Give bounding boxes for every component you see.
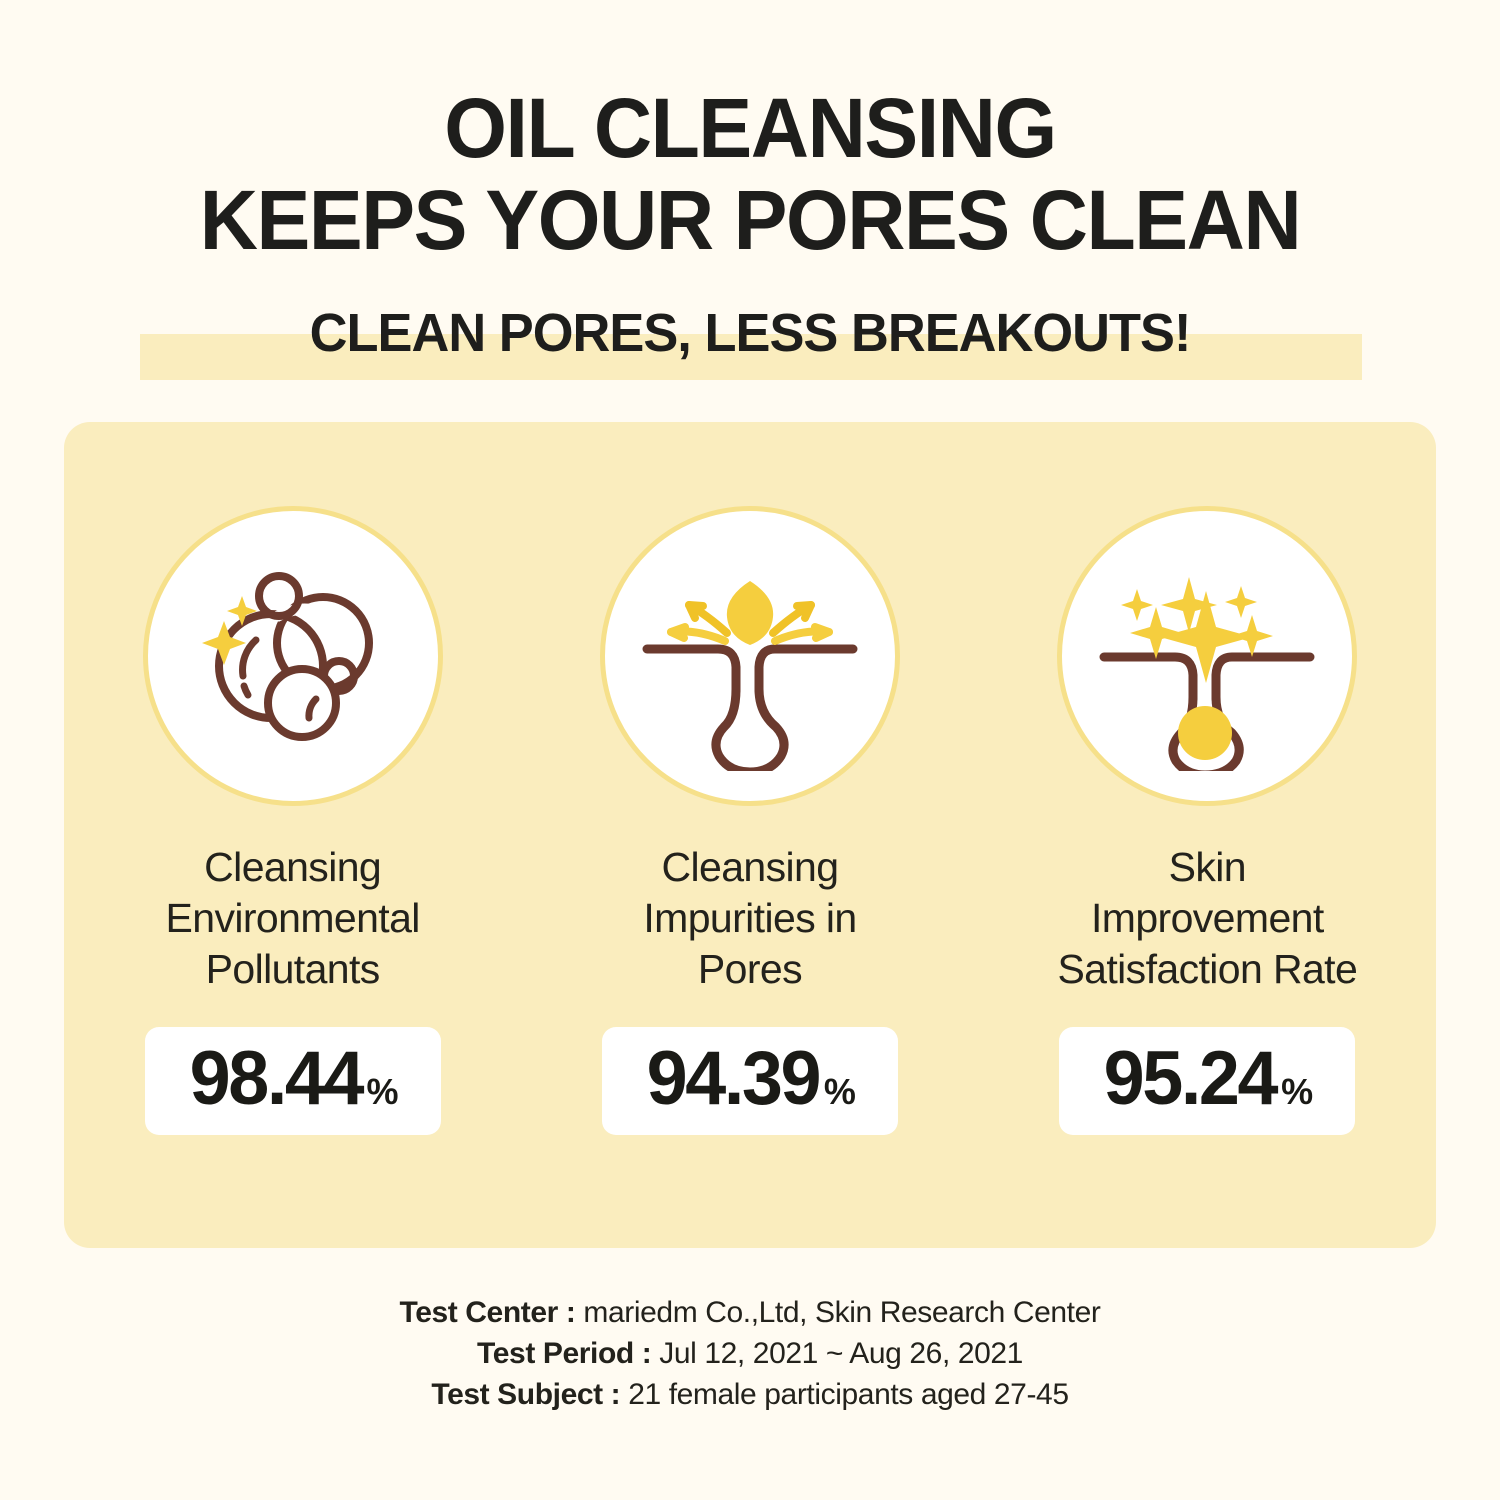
footer-value: Jul 12, 2021 ~ Aug 26, 2021 — [659, 1337, 1023, 1370]
stat-card: Cleansing Impurities in Pores 94.39 % — [550, 506, 950, 1135]
footer-line-test-subject: Test Subject : 21 female participants ag… — [0, 1374, 1500, 1415]
stat-card: Cleansing Environmental Pollutants 98.44… — [93, 506, 493, 1135]
stat-card: Skin Improvement Satisfaction Rate 95.24… — [1007, 506, 1407, 1135]
header: OIL CLEANSING KEEPS YOUR PORES CLEAN CLE… — [0, 0, 1500, 374]
stat-card-label: Skin Improvement Satisfaction Rate — [1057, 842, 1357, 995]
subtitle-text: CLEAN PORES, LESS BREAKOUTS! — [310, 302, 1191, 364]
footer-value: 21 female participants aged 27-45 — [628, 1378, 1068, 1411]
stat-value-box: 94.39 % — [602, 1027, 898, 1135]
stat-card-label: Cleansing Environmental Pollutants — [166, 842, 420, 995]
stat-card-label: Cleansing Impurities in Pores — [643, 842, 856, 995]
stat-unit: % — [1281, 1072, 1313, 1112]
stats-panel: Cleansing Environmental Pollutants 98.44… — [64, 422, 1436, 1248]
bubbles-sparkle-icon — [143, 506, 443, 806]
clean-pore-sparkle-icon — [1057, 506, 1357, 806]
study-details: Test Center : mariedm Co.,Ltd, Skin Rese… — [0, 1292, 1500, 1415]
stat-value: 98.44 — [189, 1037, 361, 1121]
subtitle-block: CLEAN PORES, LESS BREAKOUTS! — [0, 302, 1500, 374]
pore-impurities-release-icon — [600, 506, 900, 806]
page-title: OIL CLEANSING KEEPS YOUR PORES CLEAN — [0, 0, 1500, 266]
stat-value: 95.24 — [1104, 1037, 1276, 1121]
footer-key: Test Subject : — [431, 1378, 628, 1411]
footer-key: Test Center : — [400, 1296, 584, 1329]
stat-value-box: 95.24 % — [1059, 1027, 1355, 1135]
stats-card-list: Cleansing Environmental Pollutants 98.44… — [64, 422, 1436, 1248]
footer-value: mariedm Co.,Ltd, Skin Research Center — [583, 1296, 1100, 1329]
stat-unit: % — [824, 1072, 856, 1112]
stat-value: 94.39 — [647, 1037, 819, 1121]
stat-value-box: 98.44 % — [145, 1027, 441, 1135]
stat-unit: % — [366, 1072, 398, 1112]
footer-key: Test Period : — [477, 1337, 659, 1370]
footer-line-test-center: Test Center : mariedm Co.,Ltd, Skin Rese… — [0, 1292, 1500, 1333]
footer-line-test-period: Test Period : Jul 12, 2021 ~ Aug 26, 202… — [0, 1333, 1500, 1374]
title-line-2: KEEPS YOUR PORES CLEAN — [30, 174, 1470, 266]
title-line-1: OIL CLEANSING — [30, 82, 1470, 174]
